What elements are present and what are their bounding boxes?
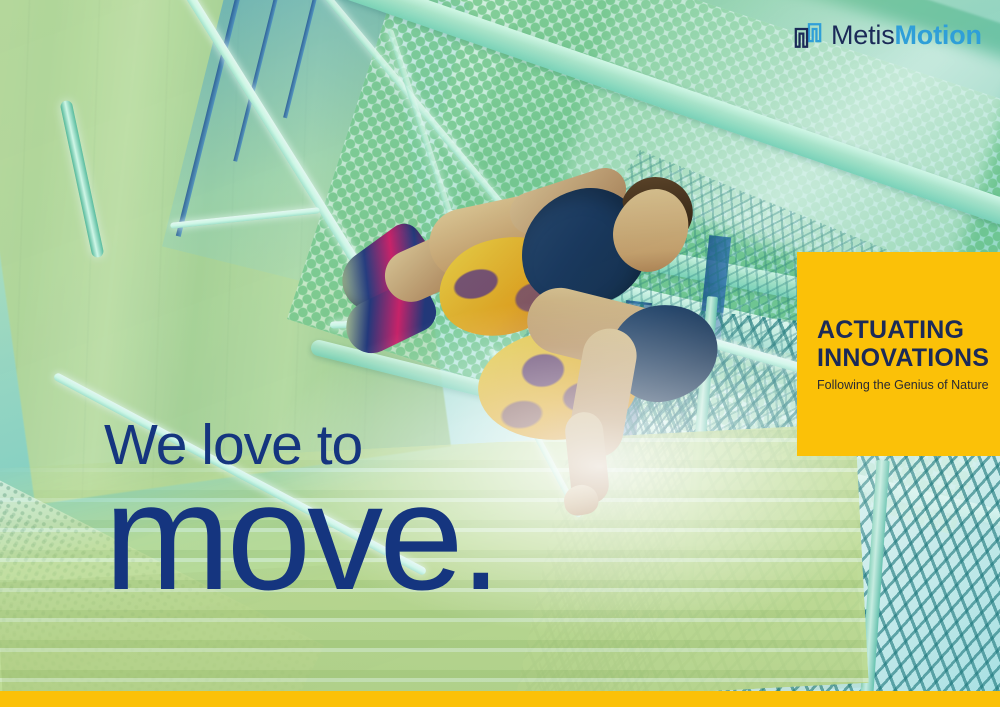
brand-word-metis: Metis — [831, 20, 895, 50]
headline-line-2: move. — [104, 475, 498, 600]
footer-accent-bar — [0, 691, 1000, 707]
metismotion-m-mark-icon — [793, 20, 823, 51]
claim-box: ACTUATING INNOVATIONS Following the Geni… — [797, 252, 1000, 456]
claim-tagline: Following the Genius of Nature — [817, 378, 980, 392]
brand-word-motion: Motion — [895, 20, 982, 50]
cover-page: MetisMotion ACTUATING INNOVATIONS Follow… — [0, 0, 1000, 707]
brand-logo[interactable]: MetisMotion — [793, 20, 982, 51]
claim-line-2: INNOVATIONS — [817, 344, 980, 372]
headline: We love to move. — [104, 418, 498, 599]
claim-line-1: ACTUATING — [817, 316, 980, 344]
brand-wordmark: MetisMotion — [831, 22, 982, 49]
